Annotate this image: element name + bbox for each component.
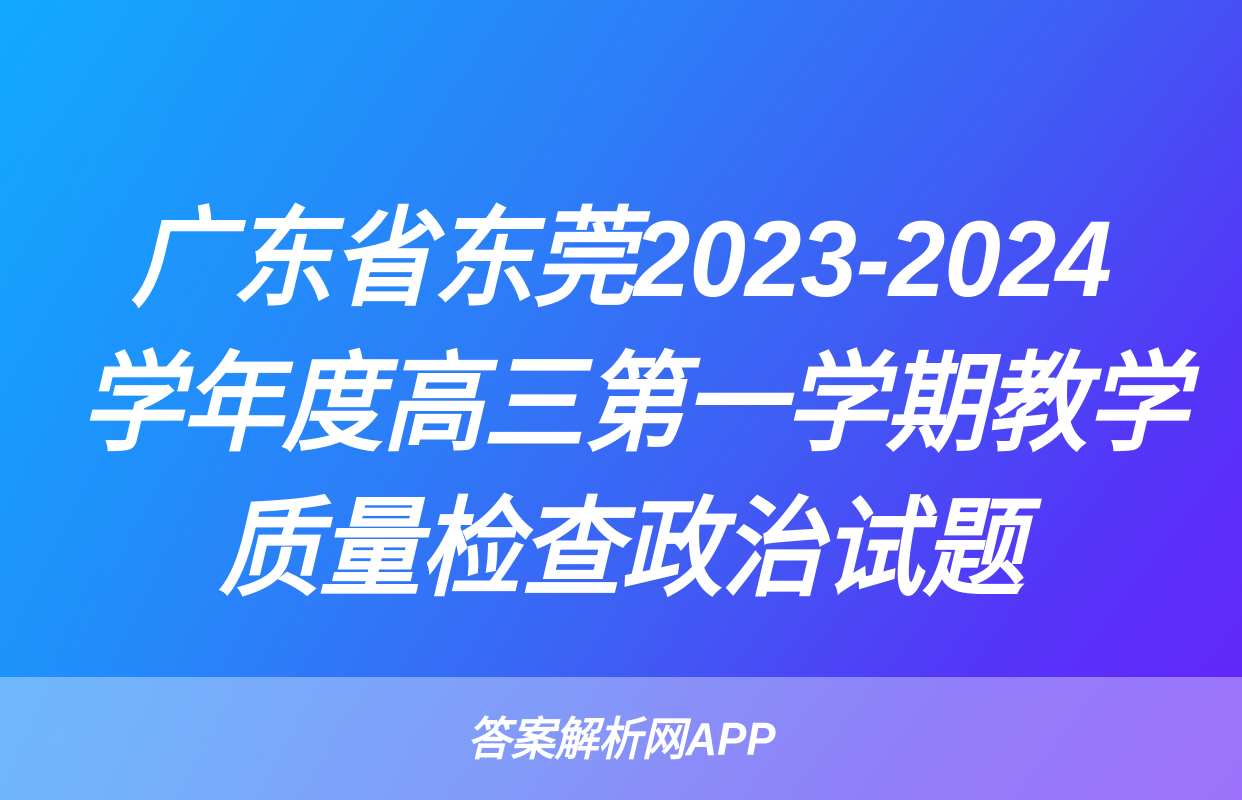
title-line-1: 广东省东莞2023-2024 — [81, 186, 1162, 331]
watermark-text: 答案解析网APP — [467, 716, 775, 762]
title-line-3: 质量检查政治试题 — [81, 476, 1162, 621]
title-line-2: 学年度高三第一学期教学 — [81, 331, 1162, 476]
watermark-band: 答案解析网APP — [0, 677, 1242, 800]
exam-title-card: 广东省东莞2023-2024 学年度高三第一学期教学 质量检查政治试题 答案解析… — [0, 0, 1242, 800]
title-block: 广东省东莞2023-2024 学年度高三第一学期教学 质量检查政治试题 — [0, 186, 1242, 621]
